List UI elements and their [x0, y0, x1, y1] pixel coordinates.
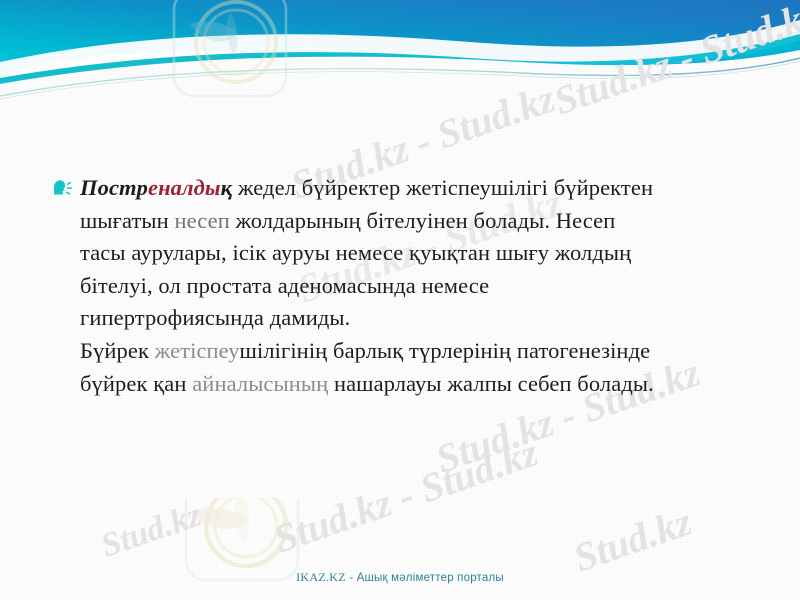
speaking-head-bullet-icon: [52, 178, 74, 198]
body-paragraph: Постреналдық жедел бүйректер жетіспеушіл…: [52, 172, 762, 400]
line7-a: бүйрек қан: [80, 371, 192, 396]
footer-brand: IKAZ.KZ: [296, 570, 346, 584]
lead-accent: еналды: [148, 175, 221, 200]
line6-dim: жетіспеу: [155, 338, 240, 363]
presentation-slide: Stud.kz - Stud.kz Stud.kz - Stud.kz Stud…: [0, 0, 800, 600]
line6-a: Бүйрек: [80, 338, 155, 363]
lead-suffix: қ: [221, 175, 233, 200]
slide-footer: IKAZ.KZ - Ашық мәліметтер порталы: [0, 568, 800, 586]
line7-dim: айналысының: [192, 371, 328, 396]
watermark-text: Stud.kz: [97, 496, 207, 565]
line3: тасы аурулары, ісік ауруы немесе қуықтан…: [80, 240, 631, 265]
footer-separator: -: [346, 572, 357, 584]
line1-rest: жедел бүйректер жетіспеушілігі бүйректен: [232, 175, 653, 200]
footer-tagline: Ашық мәліметтер порталы: [357, 572, 504, 584]
lead-prefix: Постр: [80, 175, 148, 200]
line7-b: нашарлауы жалпы себеп болады.: [328, 371, 654, 396]
line2-dim: несеп: [175, 208, 230, 233]
line5: гипертрофиясында дамиды.: [80, 305, 350, 330]
line4: бітелуі, ол простата аденомасында немесе: [80, 273, 489, 298]
watermark-text: Stud.kz - Stud.kz: [268, 428, 544, 562]
header-banner-decoration: [0, 0, 800, 120]
line2-a: шығатын: [80, 208, 175, 233]
slide-body: Постреналдық жедел бүйректер жетіспеушіл…: [52, 172, 762, 400]
line2-b: жолдарының бітелуінен болады. Несеп: [230, 208, 615, 233]
line6-b: шілігінің барлық түрлерінің патогенезінд…: [240, 338, 651, 363]
lead-term: Постреналдық: [80, 175, 232, 200]
footer-text: IKAZ.KZ - Ашық мәліметтер порталы: [296, 572, 504, 584]
